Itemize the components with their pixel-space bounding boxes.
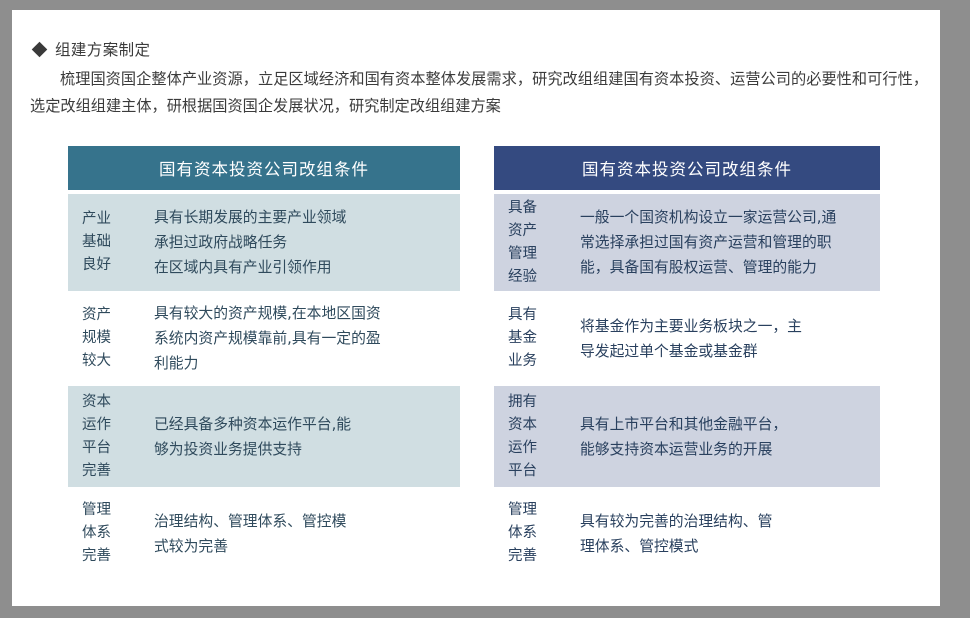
- heading-paragraph: 梳理国资国企整体产业资源，立足区域经济和国有资本整体发展需求，研究改组组建国有资…: [30, 66, 928, 120]
- table-row: 具备 资产 管理 经验 一般一个国资机构设立一家运营公司,通 常选择承担过国有资…: [494, 194, 880, 291]
- row-label: 拥有 资本 运作 平台: [508, 391, 580, 483]
- table-left: 国有资本投资公司改组条件 产业 基础 良好 具有长期发展的主要产业领域 承担过政…: [68, 146, 460, 580]
- table-row: 拥有 资本 运作 平台 具有上市平台和其他金融平台， 能够支持资本运营业务的开展: [494, 386, 880, 487]
- heading-row: 组建方案制定: [34, 38, 150, 60]
- row-text: 具有长期发展的主要产业领域 承担过政府战略任务 在区域内具有产业引领作用: [154, 205, 450, 280]
- row-label: 管理 体系 完善: [82, 499, 154, 568]
- table-row: 资本 运作 平台 完善 已经具备多种资本运作平台,能 够为投资业务提供支持: [68, 386, 460, 487]
- table-row: 具有 基金 业务 将基金作为主要业务板块之一，主 导发起过单个基金或基金群: [494, 291, 880, 386]
- slide-canvas: 组建方案制定 梳理国资国企整体产业资源，立足区域经济和国有资本整体发展需求，研究…: [12, 10, 940, 606]
- table-row: 管理 体系 完善 具有较为完善的治理结构、管 理体系、管控模式: [494, 487, 880, 580]
- table-row: 产业 基础 良好 具有长期发展的主要产业领域 承担过政府战略任务 在区域内具有产…: [68, 194, 460, 291]
- row-text: 具有上市平台和其他金融平台， 能够支持资本运营业务的开展: [580, 412, 870, 462]
- row-label: 资本 运作 平台 完善: [82, 391, 154, 483]
- row-label: 产业 基础 良好: [82, 208, 154, 277]
- comparison-tables: 国有资本投资公司改组条件 产业 基础 良好 具有长期发展的主要产业领域 承担过政…: [68, 146, 886, 580]
- row-text: 治理结构、管理体系、管控模 式较为完善: [154, 509, 450, 559]
- row-label: 具有 基金 业务: [508, 304, 580, 373]
- row-text: 已经具备多种资本运作平台,能 够为投资业务提供支持: [154, 412, 450, 462]
- row-text: 具有较大的资产规模,在本地区国资 系统内资产规模靠前,具有一定的盈 利能力: [154, 301, 450, 376]
- table-left-header: 国有资本投资公司改组条件: [68, 146, 460, 190]
- table-row: 管理 体系 完善 治理结构、管理体系、管控模 式较为完善: [68, 487, 460, 580]
- row-text: 具有较为完善的治理结构、管 理体系、管控模式: [580, 509, 870, 559]
- table-row: 资产 规模 较大 具有较大的资产规模,在本地区国资 系统内资产规模靠前,具有一定…: [68, 291, 460, 386]
- row-text: 一般一个国资机构设立一家运营公司,通 常选择承担过国有资产运营和管理的职 能，具…: [580, 205, 870, 280]
- table-right: 国有资本投资公司改组条件 具备 资产 管理 经验 一般一个国资机构设立一家运营公…: [494, 146, 880, 580]
- table-right-header: 国有资本投资公司改组条件: [494, 146, 880, 190]
- diamond-bullet-icon: [32, 41, 48, 57]
- page-title: 组建方案制定: [55, 38, 150, 60]
- row-text: 将基金作为主要业务板块之一，主 导发起过单个基金或基金群: [580, 314, 870, 364]
- row-label: 资产 规模 较大: [82, 304, 154, 373]
- row-label: 管理 体系 完善: [508, 499, 580, 568]
- row-label: 具备 资产 管理 经验: [508, 197, 580, 289]
